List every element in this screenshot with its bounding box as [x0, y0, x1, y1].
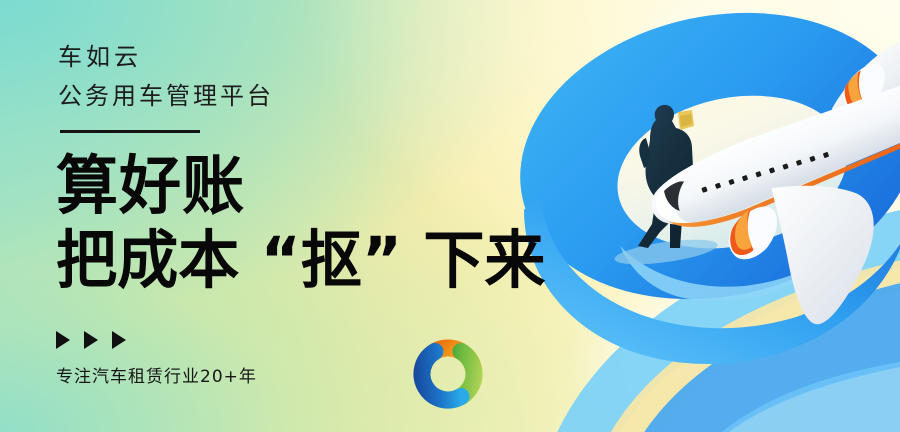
tagline: 专注汽车租赁行业20+年	[56, 362, 257, 387]
triangle-icon-1	[56, 331, 70, 349]
headline-line-2: 把成本 “抠” 下来	[56, 224, 657, 298]
headline-line-1: 算好账	[56, 150, 657, 224]
divider-rule	[60, 130, 200, 133]
logo-arc-right	[412, 351, 461, 409]
cloud-tri-arc-logo	[398, 328, 498, 420]
brand-platform: 公务用车管理平台	[58, 82, 478, 112]
triangle-icon-2	[84, 331, 98, 349]
headline-block: 算好账 把成本 “抠” 下来	[56, 150, 676, 298]
brand-block: 车如云 公务用车管理平台	[58, 43, 478, 112]
brand-name: 车如云	[58, 43, 478, 73]
promo-banner: 车如云 公务用车管理平台 算好账 把成本 “抠” 下来 专注汽车租赁行业20+年	[0, 0, 900, 432]
triangle-icon-3	[112, 331, 126, 349]
triangle-marker-row	[56, 331, 126, 349]
